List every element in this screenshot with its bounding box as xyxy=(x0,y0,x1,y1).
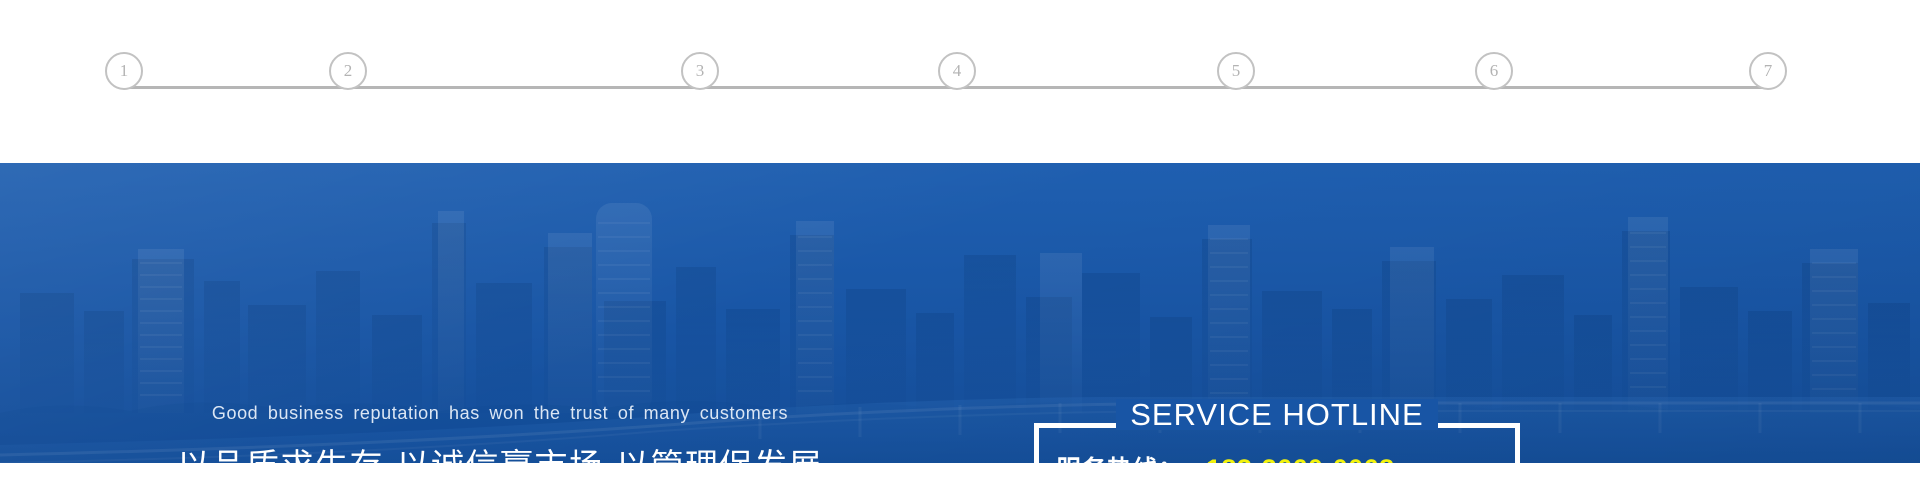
step-1[interactable]: 1 xyxy=(105,52,143,90)
step-6[interactable]: 6 xyxy=(1475,52,1513,90)
hotline-label: 服务热线： xyxy=(1056,450,1206,463)
step-2[interactable]: 2 xyxy=(329,52,367,90)
hotline-number-list: 服务热线： 183-2660-0068 0551-63749777 xyxy=(1034,450,1520,463)
promo-banner-page: 1 2 3 4 5 6 7 xyxy=(0,0,1920,500)
slogan-english-line: Good business reputation has won the tru… xyxy=(0,403,1000,424)
slogan-block: Good business reputation has won the tru… xyxy=(0,326,1000,463)
blue-banner: Good business reputation has won the tru… xyxy=(0,163,1920,463)
slogan-main-line: 以品质求生存·以诚信赢市场·以管理促发展 xyxy=(0,439,1000,463)
service-hotline-box: SERVICE HOTLINE 服务热线： 183-2660-0068 0551… xyxy=(1034,423,1520,463)
step-5[interactable]: 5 xyxy=(1217,52,1255,90)
hotline-number-primary[interactable]: 183-2660-0068 xyxy=(1206,454,1394,463)
hotline-row-primary: 服务热线： 183-2660-0068 xyxy=(1056,450,1520,463)
page-stepper: 1 2 3 4 5 6 7 xyxy=(0,0,1920,163)
step-3[interactable]: 3 xyxy=(681,52,719,90)
step-4[interactable]: 4 xyxy=(938,52,976,90)
step-7[interactable]: 7 xyxy=(1749,52,1787,90)
